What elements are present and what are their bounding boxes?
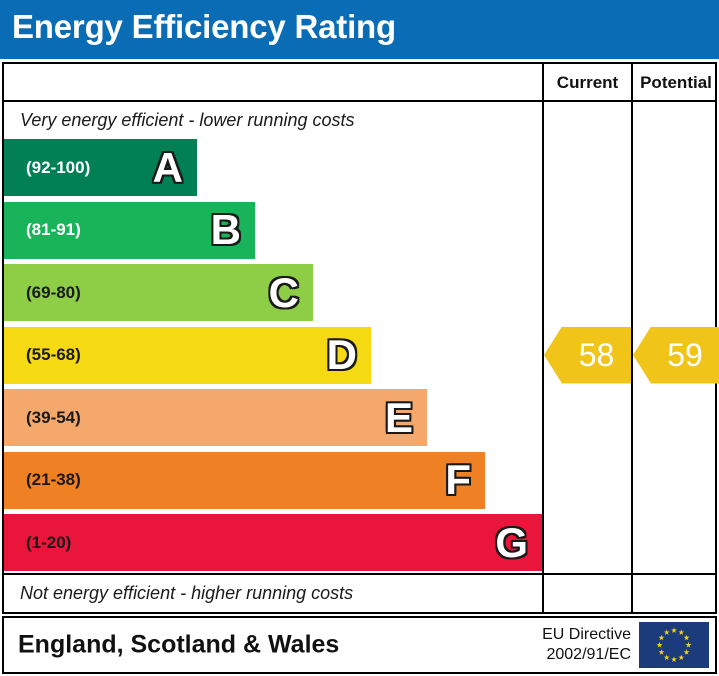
title-banner: Energy Efficiency Rating bbox=[0, 0, 719, 59]
band-letter-c: C bbox=[269, 272, 299, 314]
directive-line-2: 2002/91/EC bbox=[542, 645, 631, 665]
band-range-label: (55-68) bbox=[26, 345, 81, 365]
chart-frame: Current Potential Very energy efficient … bbox=[2, 62, 717, 614]
band-letter-b: B bbox=[211, 209, 241, 251]
rating-band-e: (39-54)E bbox=[4, 389, 427, 446]
eu-flag-icon bbox=[639, 622, 709, 668]
current-rating-arrow: 58 bbox=[544, 327, 631, 384]
band-range-label: (69-80) bbox=[26, 283, 81, 303]
caption-very-efficient: Very energy efficient - lower running co… bbox=[20, 110, 355, 131]
band-letter-g: G bbox=[495, 522, 528, 564]
header-divider bbox=[4, 100, 715, 102]
footer-directive: EU Directive 2002/91/EC bbox=[542, 625, 631, 665]
rating-band-f: (21-38)F bbox=[4, 452, 485, 509]
potential-rating-value: 59 bbox=[651, 339, 719, 371]
band-letter-a: A bbox=[153, 147, 183, 189]
potential-rating-arrow: 59 bbox=[633, 327, 719, 384]
band-range-label: (92-100) bbox=[26, 158, 90, 178]
rating-band-b: (81-91)B bbox=[4, 202, 255, 259]
footer-bar: England, Scotland & Wales EU Directive 2… bbox=[2, 616, 717, 674]
current-rating-value: 58 bbox=[562, 339, 631, 371]
potential-column-divider bbox=[631, 64, 633, 612]
rating-band-g: (1-20)G bbox=[4, 514, 542, 571]
band-letter-e: E bbox=[385, 397, 413, 439]
rating-band-d: (55-68)D bbox=[4, 327, 371, 384]
energy-efficiency-rating-chart: Energy Efficiency Rating Current Potenti… bbox=[0, 0, 719, 676]
rating-band-a: (92-100)A bbox=[4, 139, 197, 196]
rating-band-c: (69-80)C bbox=[4, 264, 313, 321]
column-header-potential: Potential bbox=[633, 70, 719, 96]
current-column-divider bbox=[542, 64, 544, 612]
footer-region-label: England, Scotland & Wales bbox=[18, 631, 339, 660]
page-title: Energy Efficiency Rating bbox=[12, 8, 396, 46]
rating-bands: (92-100)A(81-91)B(69-80)C(55-68)D(39-54)… bbox=[4, 139, 542, 578]
band-letter-d: D bbox=[327, 334, 357, 376]
band-range-label: (1-20) bbox=[26, 533, 71, 553]
band-range-label: (39-54) bbox=[26, 408, 81, 428]
band-range-label: (21-38) bbox=[26, 470, 81, 490]
directive-line-1: EU Directive bbox=[542, 625, 631, 645]
band-range-label: (81-91) bbox=[26, 220, 81, 240]
caption-not-efficient: Not energy efficient - higher running co… bbox=[20, 583, 353, 604]
band-letter-f: F bbox=[445, 459, 471, 501]
column-header-current: Current bbox=[544, 70, 631, 96]
